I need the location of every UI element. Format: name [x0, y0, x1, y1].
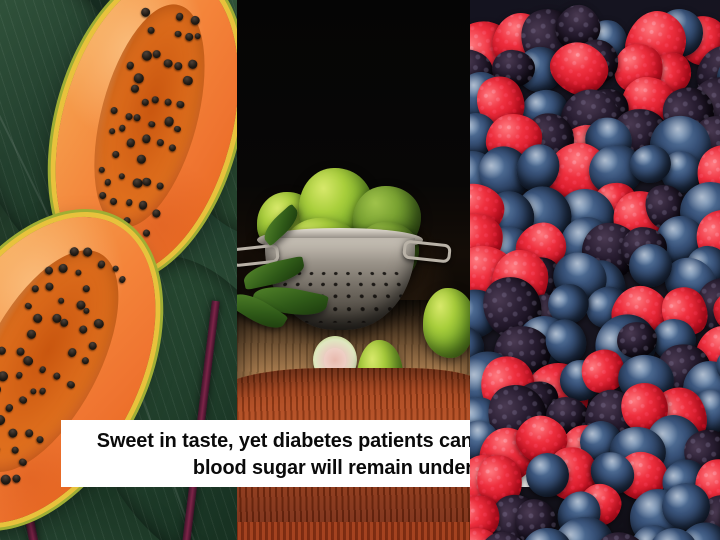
papaya-seed	[0, 383, 2, 396]
papaya-seed	[108, 128, 116, 136]
papaya-seed	[176, 100, 185, 109]
papaya-seed	[110, 197, 118, 205]
papaya-seed	[92, 317, 105, 330]
papaya-seed	[30, 284, 40, 294]
papaya-seed	[168, 143, 177, 152]
papaya-seed	[174, 125, 182, 133]
papaya-seed	[133, 73, 145, 85]
panel-berries	[470, 0, 720, 540]
papaya-seed	[98, 191, 107, 200]
papaya-seed	[39, 387, 47, 395]
papaya-seed	[15, 371, 23, 379]
papaya-seed	[136, 154, 147, 165]
papaya-seed	[18, 395, 28, 405]
papaya-seed	[141, 50, 153, 62]
papaya-seed	[81, 356, 91, 366]
papaya-seed	[52, 371, 62, 381]
papaya-seed	[24, 301, 33, 310]
papaya-seed	[111, 150, 120, 159]
papaya-seed	[82, 306, 91, 315]
papaya-seed	[126, 61, 135, 70]
papaya-seed	[130, 84, 139, 93]
papaya-seed	[151, 96, 159, 104]
papaya-seed	[0, 369, 10, 382]
papaya-seed	[44, 282, 55, 293]
papaya-seed	[0, 346, 7, 356]
papaya-seed	[82, 246, 94, 258]
papaya-seed	[109, 106, 118, 115]
papaya-seed	[156, 138, 164, 146]
papaya-seed	[138, 200, 148, 210]
papaya-seed	[185, 32, 195, 42]
papaya-seed	[112, 264, 120, 272]
papaya-seed	[141, 98, 149, 106]
papaya-seed	[35, 434, 45, 444]
papaya-seed	[156, 182, 164, 190]
papaya-seed	[126, 138, 136, 148]
papaya-seed	[140, 7, 151, 18]
papaya-seed	[39, 366, 48, 375]
papaya-seed	[77, 324, 89, 336]
papaya-seed	[152, 209, 161, 218]
papaya-seed	[118, 275, 127, 284]
papaya-seed	[98, 166, 105, 173]
papaya-seed	[133, 113, 141, 121]
papaya-seed	[188, 59, 198, 69]
papaya-seed	[57, 297, 65, 305]
papaya-seed	[0, 473, 12, 486]
papaya-seed	[163, 58, 174, 69]
papaya-seed	[125, 199, 133, 207]
papaya-seed	[175, 12, 185, 22]
papaya-seed	[0, 445, 1, 453]
papaya-seed	[87, 340, 98, 351]
papaya-seed	[4, 403, 14, 413]
papaya-seed	[189, 15, 200, 26]
papaya-seed	[18, 457, 28, 467]
papaya-seed	[104, 178, 112, 186]
papaya-seed	[81, 283, 91, 293]
papaya-seed	[122, 216, 131, 225]
papaya-seed	[142, 229, 150, 237]
papaya-seed	[32, 312, 44, 324]
papaya-seed	[68, 246, 80, 258]
papaya-seed	[163, 116, 174, 127]
guava-fruit-standalone	[423, 288, 470, 358]
papaya-seed	[182, 75, 193, 86]
papaya-seed	[66, 380, 76, 390]
papaya-seed	[22, 354, 35, 367]
papaya-seed	[147, 26, 156, 35]
papaya-seed	[23, 427, 35, 439]
papaya-seed	[6, 427, 19, 440]
papaya-seed	[148, 120, 156, 128]
papaya-seed	[194, 32, 202, 40]
papaya-seed	[43, 265, 54, 276]
papaya-seed	[57, 262, 69, 274]
papaya-seed	[15, 346, 26, 357]
papaya-seed	[173, 62, 183, 72]
papaya-seed	[0, 413, 7, 426]
papaya-seed	[26, 328, 38, 340]
papaya-seed	[96, 259, 106, 269]
papaya-seed	[74, 268, 82, 276]
papaya-seed	[174, 30, 182, 38]
colander-bowl	[265, 238, 415, 330]
papaya-seed	[59, 317, 70, 328]
collage-stage: Sweet in taste, yet diabetes patients ca…	[0, 0, 720, 540]
papaya-seed	[141, 134, 151, 144]
papaya-seed	[118, 172, 125, 179]
papaya-seed	[118, 124, 126, 132]
papaya-seed	[12, 473, 23, 484]
papaya-seed	[29, 387, 38, 396]
papaya-seed	[151, 49, 161, 59]
papaya-seed	[10, 445, 19, 454]
cloth-fringe	[237, 522, 470, 540]
papaya-seed	[142, 176, 153, 187]
papaya-seed	[164, 98, 173, 107]
papaya-seed	[66, 347, 77, 358]
